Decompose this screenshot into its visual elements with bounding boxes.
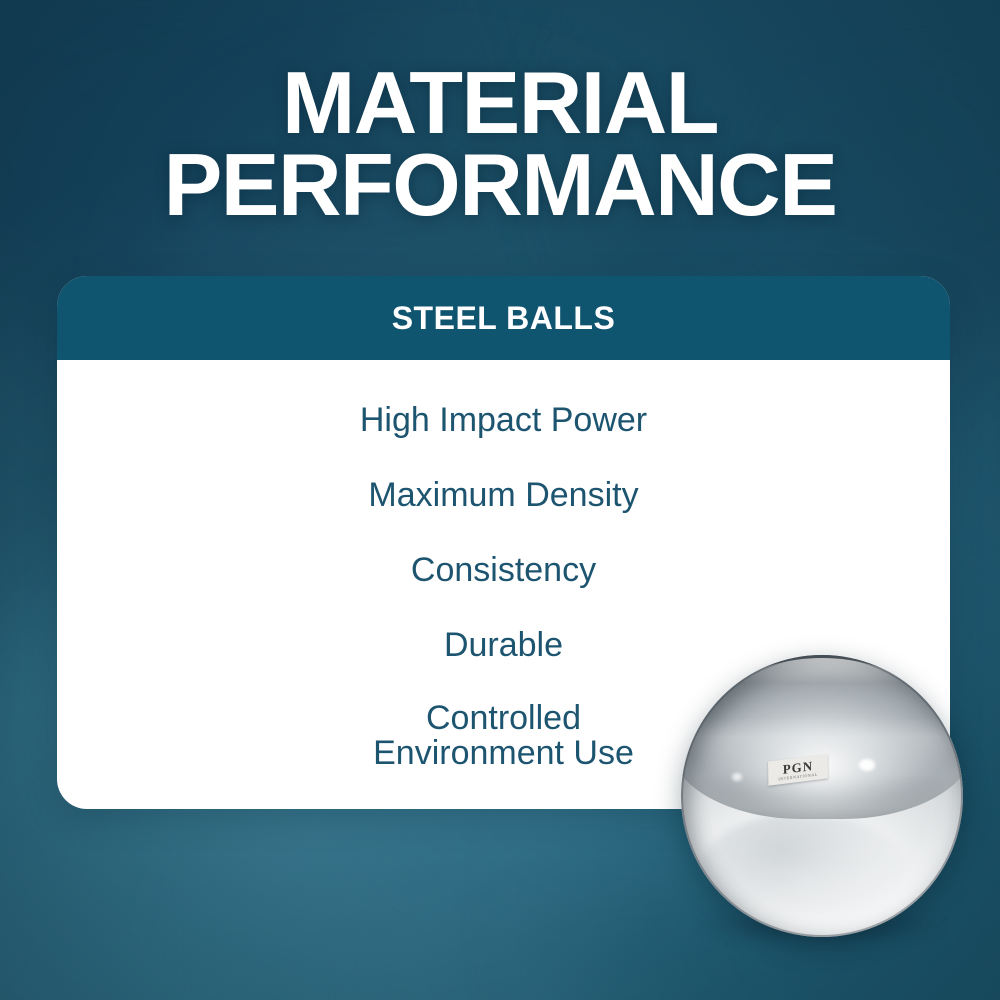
feature-list-item: High Impact Power	[57, 403, 950, 438]
feature-list-item: Maximum Density	[57, 478, 950, 513]
poster-canvas: MATERIAL PERFORMANCE STEEL BALLS High Im…	[0, 0, 1000, 1000]
steel-ball-edge-shading	[681, 655, 963, 937]
steel-ball-sphere: PGN INTERNATIONAL	[681, 655, 963, 937]
feature-card-header: STEEL BALLS	[57, 276, 950, 360]
feature-list-item: Consistency	[57, 553, 950, 588]
page-title: MATERIAL PERFORMANCE	[0, 62, 1000, 226]
feature-card-title: STEEL BALLS	[392, 300, 616, 337]
steel-ball-image: PGN INTERNATIONAL	[681, 655, 963, 937]
